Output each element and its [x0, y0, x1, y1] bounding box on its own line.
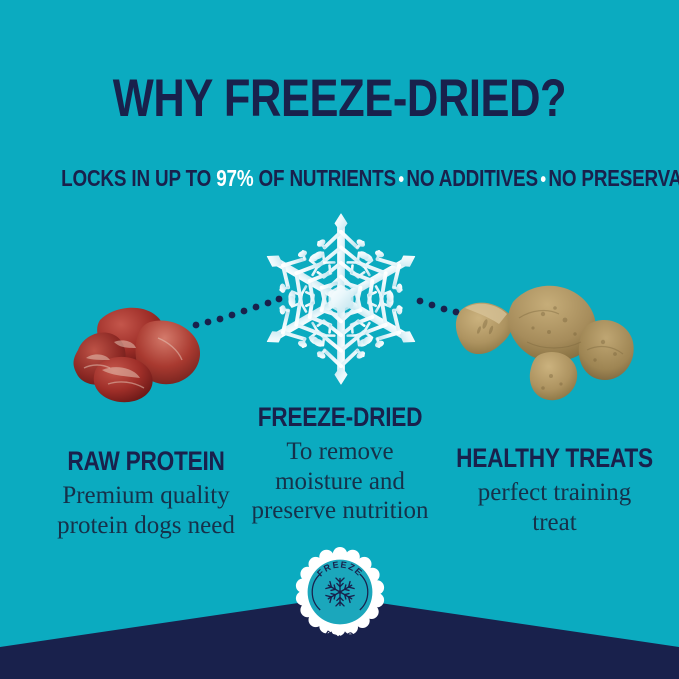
bullet-separator-2: • — [538, 169, 549, 191]
subhead-part1: LOCKS IN UP TO — [61, 165, 216, 191]
freeze-dried-treats-photo — [455, 272, 641, 408]
column-body-healthy-treats: perfect training treat — [430, 478, 679, 537]
column-body-freeze-dried: To remove moisture and preserve nutritio… — [215, 437, 465, 526]
body-line: moisture and — [215, 467, 465, 497]
column-title-healthy-treats: HEALTHY TREATS — [450, 445, 659, 472]
column-title-freeze-dried: FREEZE-DRIED — [235, 404, 445, 431]
claim-no-preservatives: NO PRESERVATIVES — [548, 165, 679, 191]
bullet-separator-1: • — [396, 169, 407, 191]
subheadline: LOCKS IN UP TO 97% OF NUTRIENTS•NO ADDIT… — [61, 167, 618, 190]
body-line: treat — [430, 508, 679, 538]
raw-meat-photo — [62, 298, 210, 408]
body-line: preserve nutrition — [215, 496, 465, 526]
freeze-dried-seal-badge: FREEZE DRIED — [295, 547, 385, 637]
body-line: perfect training — [430, 478, 679, 508]
claim-no-additives: NO ADDITIVES — [406, 165, 537, 191]
column-freeze-dried: FREEZE-DRIED To remove moisture and pres… — [215, 404, 465, 526]
subhead-part2: OF NUTRIENTS — [253, 165, 395, 191]
nutrient-percentage: 97% — [216, 165, 253, 191]
body-line: To remove — [215, 437, 465, 467]
page-title: WHY FREEZE-DRIED? — [61, 72, 618, 125]
snowflake-graphic — [255, 213, 427, 385]
infographic-poster: WHY FREEZE-DRIED? LOCKS IN UP TO 97% OF … — [0, 0, 679, 679]
column-healthy-treats: HEALTHY TREATS perfect training treat — [430, 445, 679, 537]
